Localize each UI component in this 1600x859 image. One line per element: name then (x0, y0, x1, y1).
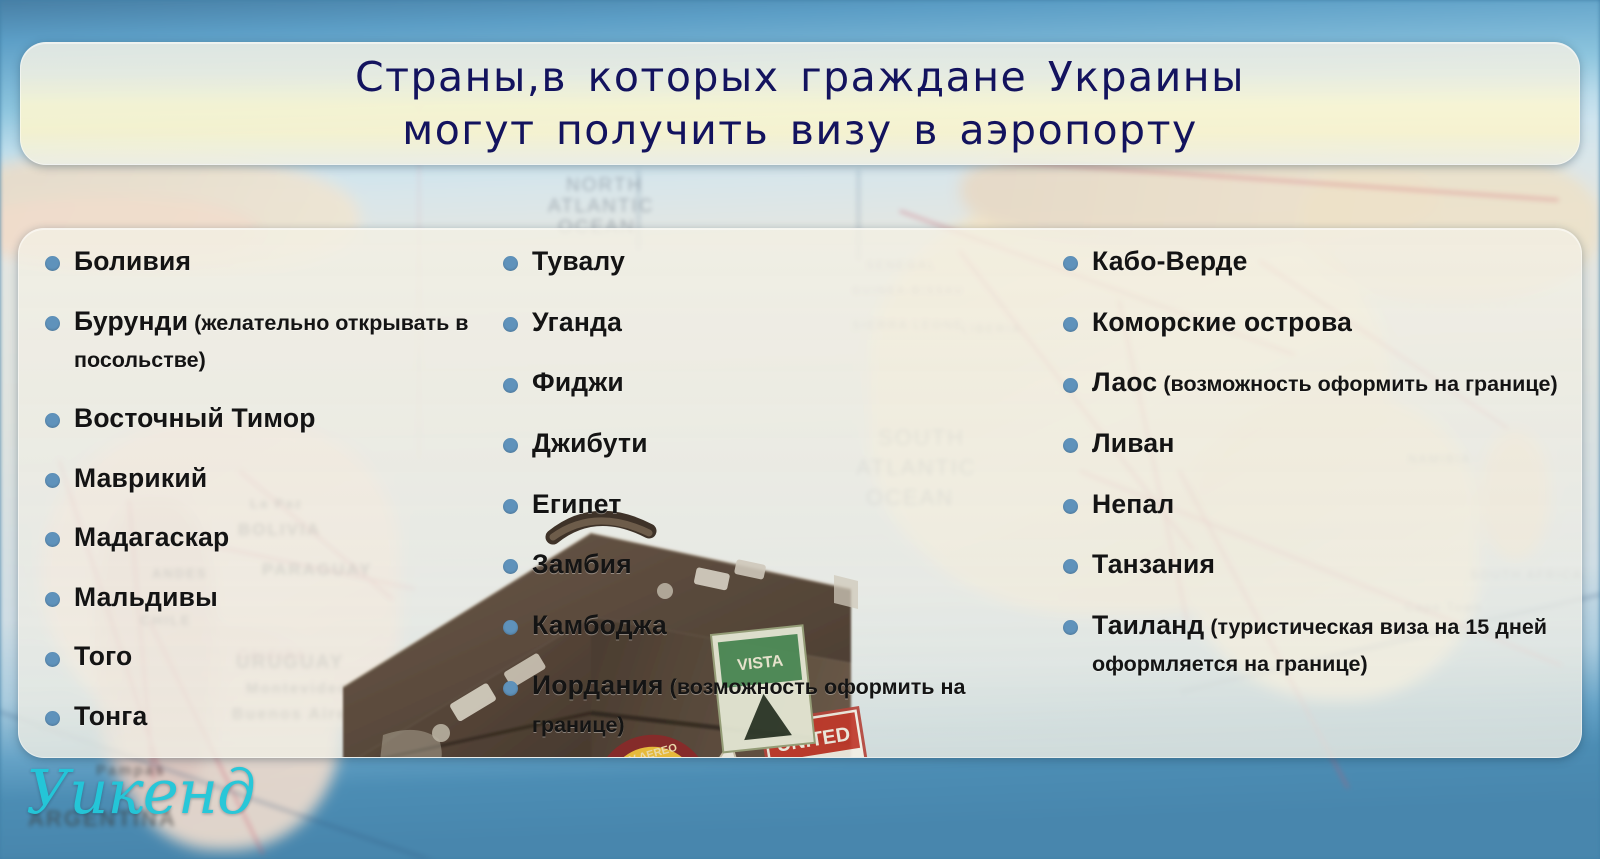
country-name: Иордания (532, 670, 664, 700)
map-label: ATLANTIC (548, 196, 654, 218)
country-list-item: Восточный Тимор (43, 400, 483, 438)
country-name: Тувалу (532, 246, 625, 276)
bullet-icon (45, 711, 60, 726)
country-list-panel: CAIRO DY · A SERV AEREO VARIG (18, 228, 1582, 758)
bullet-icon (45, 532, 60, 547)
country-name: Ливан (1092, 428, 1175, 458)
country-column-1: БоливияБурунди (желательно открывать в п… (19, 243, 489, 757)
country-list-item: Таиланд (туристическая виза на 15 дней о… (1061, 607, 1561, 682)
country-name: Маврикий (74, 463, 207, 493)
country-name: Камбоджа (532, 610, 667, 640)
country-name: Замбия (532, 549, 632, 579)
bullet-icon (503, 438, 518, 453)
country-list-item: Тувалу (501, 243, 1043, 281)
bullet-icon (503, 499, 518, 514)
country-name: Того (74, 641, 132, 671)
bullet-icon (1063, 317, 1078, 332)
bullet-icon (45, 316, 60, 331)
page-title-line-2: могут получить визу в аэропорту (402, 104, 1197, 156)
country-list-item: Непал (1061, 486, 1561, 524)
country-name: Восточный Тимор (74, 403, 316, 433)
country-name: Таиланд (1092, 610, 1204, 640)
country-list-item: Мальдивы (43, 579, 483, 617)
country-list-item: Кабо-Верде (1061, 243, 1561, 281)
country-list-item: Маврикий (43, 460, 483, 498)
country-columns: БоливияБурунди (желательно открывать в п… (19, 229, 1581, 757)
country-name: Коморские острова (1092, 307, 1352, 337)
bullet-icon (503, 256, 518, 271)
country-list-item: Иордания (возможность оформить на границ… (501, 667, 1043, 742)
country-list-item: Бурунди (желательно открывать в посольст… (43, 303, 483, 378)
country-list-item: Джибути (501, 425, 1043, 463)
country-name: Танзания (1092, 549, 1215, 579)
map-label: NORTH (566, 175, 643, 197)
country-column-2: ТувалуУгандаФиджиДжибутиЕгипетЗамбияКамб… (489, 243, 1049, 757)
bullet-icon (45, 256, 60, 271)
title-panel: Страны,в которых граждане Украины могут … (20, 42, 1580, 165)
bullet-icon (1063, 559, 1078, 574)
bullet-icon (45, 652, 60, 667)
country-list-item: Ливан (1061, 425, 1561, 463)
country-name: Джибути (532, 428, 648, 458)
country-name: Уганда (532, 307, 622, 337)
country-list-item: Уганда (501, 304, 1043, 342)
bullet-icon (1063, 620, 1078, 635)
country-name: Кабо-Верде (1092, 246, 1248, 276)
country-name: Мадагаскар (74, 522, 229, 552)
bullet-icon (1063, 499, 1078, 514)
bullet-icon (503, 681, 518, 696)
country-list-item: Танзания (1061, 546, 1561, 584)
bullet-icon (45, 592, 60, 607)
bullet-icon (1063, 378, 1078, 393)
country-name: Мальдивы (74, 582, 218, 612)
country-note: (возможность оформить на границе) (1157, 372, 1557, 396)
country-list-item: Лаос (возможность оформить на границе) (1061, 364, 1561, 402)
bullet-icon (45, 413, 60, 428)
country-name: Непал (1092, 489, 1174, 519)
bullet-icon (503, 317, 518, 332)
country-list-item: Египет (501, 486, 1043, 524)
country-list-item: Фиджи (501, 364, 1043, 402)
bullet-icon (503, 559, 518, 574)
country-name: Бурунди (74, 306, 188, 336)
watermark-logo: Уикенд (26, 762, 255, 823)
country-name: Лаос (1092, 367, 1157, 397)
country-name: Боливия (74, 246, 191, 276)
bullet-icon (45, 473, 60, 488)
country-list-item: Боливия (43, 243, 483, 281)
page-title-line-1: Страны,в которых граждане Украины (355, 51, 1245, 103)
country-name: Тонга (74, 701, 148, 731)
country-list-item: Того (43, 638, 483, 676)
bullet-icon (503, 620, 518, 635)
country-list-item: Замбия (501, 546, 1043, 584)
bullet-icon (503, 378, 518, 393)
country-list-item: Мадагаскар (43, 519, 483, 557)
country-column-3: Кабо-ВердеКоморские островаЛаос (возможн… (1049, 243, 1581, 757)
bullet-icon (1063, 256, 1078, 271)
bullet-icon (1063, 438, 1078, 453)
country-list-item: Тонга (43, 698, 483, 736)
country-name: Египет (532, 489, 622, 519)
country-name: Фиджи (532, 367, 624, 397)
country-list-item: Коморские острова (1061, 304, 1561, 342)
country-list-item: Камбоджа (501, 607, 1043, 645)
